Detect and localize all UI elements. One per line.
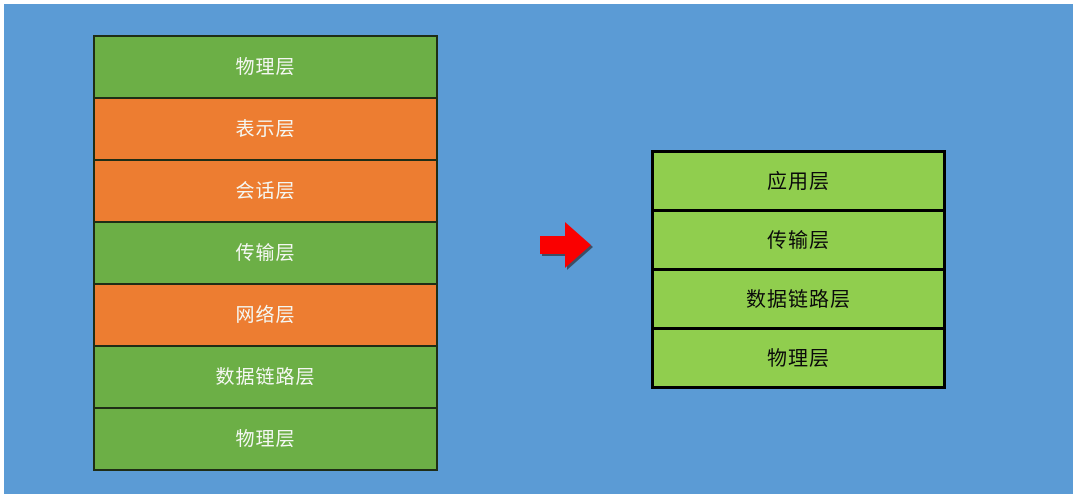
- osi-layer-row-3[interactable]: 会话层: [95, 161, 436, 223]
- osi-layer-label-3: 会话层: [235, 182, 295, 201]
- tcpip-layer-row-1[interactable]: 应用层: [654, 153, 943, 212]
- tcpip-layer-row-4[interactable]: 物理层: [654, 330, 943, 386]
- osi-layer-label-4: 传输层: [235, 244, 295, 263]
- osi-layer-label-7: 物理层: [235, 430, 295, 449]
- osi-layer-row-2[interactable]: 表示层: [95, 99, 436, 161]
- osi-layer-row-4[interactable]: 传输层: [95, 223, 436, 285]
- osi-layer-row-6[interactable]: 数据链路层: [95, 347, 436, 409]
- osi-layer-stack: 物理层 表示层 会话层 传输层 网络层 数据链路层 物理层: [93, 35, 438, 471]
- tcpip-layer-row-2[interactable]: 传输层: [654, 212, 943, 271]
- diagram-canvas: 物理层 表示层 会话层 传输层 网络层 数据链路层 物理层 应用层: [0, 0, 1080, 502]
- tcpip-layer-label-1: 应用层: [767, 171, 830, 191]
- osi-layer-label-5: 网络层: [235, 306, 295, 325]
- right-arrow-icon: [535, 219, 595, 271]
- osi-layer-row-1[interactable]: 物理层: [95, 37, 436, 99]
- osi-layer-label-2: 表示层: [235, 120, 295, 139]
- tcpip-layer-stack: 应用层 传输层 数据链路层 物理层: [651, 150, 946, 389]
- osi-layer-row-7[interactable]: 物理层: [95, 409, 436, 469]
- tcpip-layer-label-2: 传输层: [767, 230, 830, 250]
- tcpip-layer-label-4: 物理层: [767, 348, 830, 368]
- tcpip-layer-row-3[interactable]: 数据链路层: [654, 271, 943, 330]
- osi-layer-label-6: 数据链路层: [215, 368, 315, 387]
- osi-layer-row-5[interactable]: 网络层: [95, 285, 436, 347]
- osi-layer-label-1: 物理层: [235, 58, 295, 77]
- tcpip-layer-label-3: 数据链路层: [746, 289, 851, 309]
